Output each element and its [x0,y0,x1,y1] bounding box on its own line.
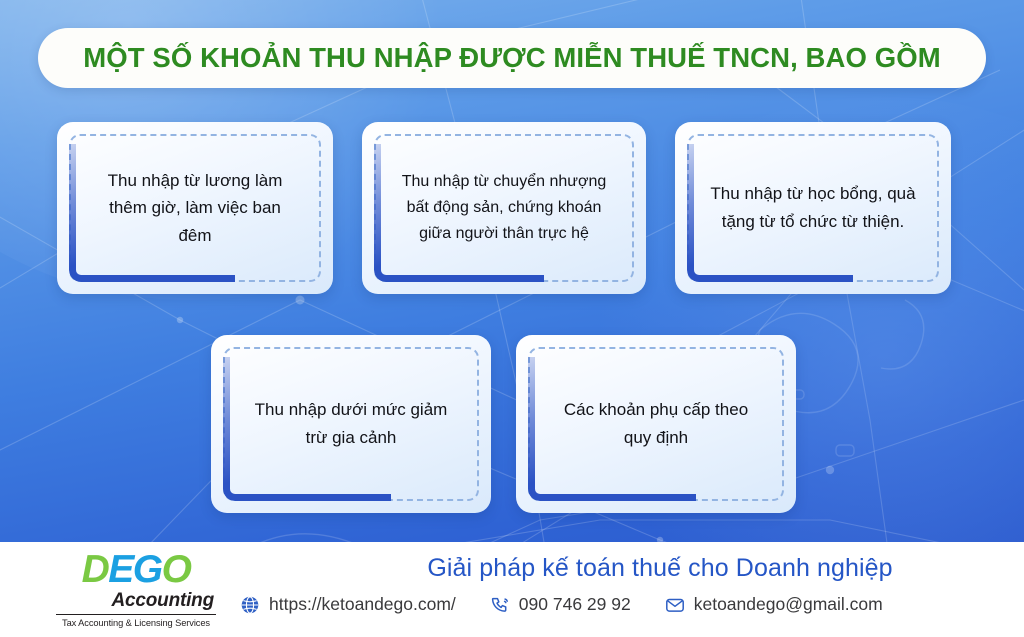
dego-logo: DEGO Accounting Tax Accounting & Licensi… [56,550,216,628]
info-card-text: Các khoản phụ cấp theo quy định [530,396,782,451]
info-card-text: Thu nhập dưới mức giảm trừ gia cảnh [225,396,477,451]
info-card-text: Thu nhập từ lương làm thêm giờ, làm việc… [71,167,319,250]
info-card-text: Thu nhập từ học bổng, quà tặng từ tổ chứ… [689,180,937,235]
info-card-frame: Thu nhập từ học bổng, quà tặng từ tổ chứ… [687,134,939,282]
logo-divider [56,614,216,616]
footer-content: Giải pháp kế toán thuế cho Doanh nghiệp [236,554,1024,615]
logo-letter-d: D [82,548,109,591]
page-title: MỘT SỐ KHOẢN THU NHẬP ĐƯỢC MIỄN THUẾ TNC… [83,42,940,74]
footer-bar: DEGO Accounting Tax Accounting & Licensi… [0,542,1024,637]
info-card: Thu nhập từ chuyển nhượng bất động sản, … [362,122,646,294]
info-card: Các khoản phụ cấp theo quy định [516,335,796,513]
logo-wordmark: DEGO [56,550,216,589]
info-card-text: Thu nhập từ chuyển nhượng bất động sản, … [376,169,632,247]
logo-letter-g: G [133,548,162,591]
info-card-frame: Thu nhập từ lương làm thêm giờ, làm việc… [69,134,321,282]
contact-phone-label: 090 746 29 92 [519,594,631,615]
info-card: Thu nhập từ học bổng, quà tặng từ tổ chứ… [675,122,951,294]
contact-website-label: https://ketoandego.com/ [269,594,456,615]
logo-letter-e: E [108,548,133,591]
contact-phone[interactable]: 090 746 29 92 [490,594,631,615]
phone-icon [490,595,510,615]
info-card-frame: Thu nhập dưới mức giảm trừ gia cảnh [223,347,479,501]
footer-slogan: Giải pháp kế toán thuế cho Doanh nghiệp [236,554,1024,583]
info-card: Thu nhập từ lương làm thêm giờ, làm việc… [57,122,333,294]
logo-tagline: Tax Accounting & Licensing Services [56,618,216,628]
logo-subtitle: Accounting [56,590,216,612]
contact-email[interactable]: ketoandego@gmail.com [665,594,883,615]
mail-icon [665,595,685,615]
contact-row: https://ketoandego.com/ 090 746 29 92 [236,594,1024,615]
info-card-frame: Thu nhập từ chuyển nhượng bất động sản, … [374,134,634,282]
infographic-poster: MỘT SỐ KHOẢN THU NHẬP ĐƯỢC MIỄN THUẾ TNC… [0,0,1024,637]
contact-website[interactable]: https://ketoandego.com/ [240,594,456,615]
logo-letter-o: O [162,548,191,591]
contact-email-label: ketoandego@gmail.com [694,594,883,615]
info-card-frame: Các khoản phụ cấp theo quy định [528,347,784,501]
info-card: Thu nhập dưới mức giảm trừ gia cảnh [211,335,491,513]
globe-icon [240,595,260,615]
title-banner: MỘT SỐ KHOẢN THU NHẬP ĐƯỢC MIỄN THUẾ TNC… [38,28,986,88]
